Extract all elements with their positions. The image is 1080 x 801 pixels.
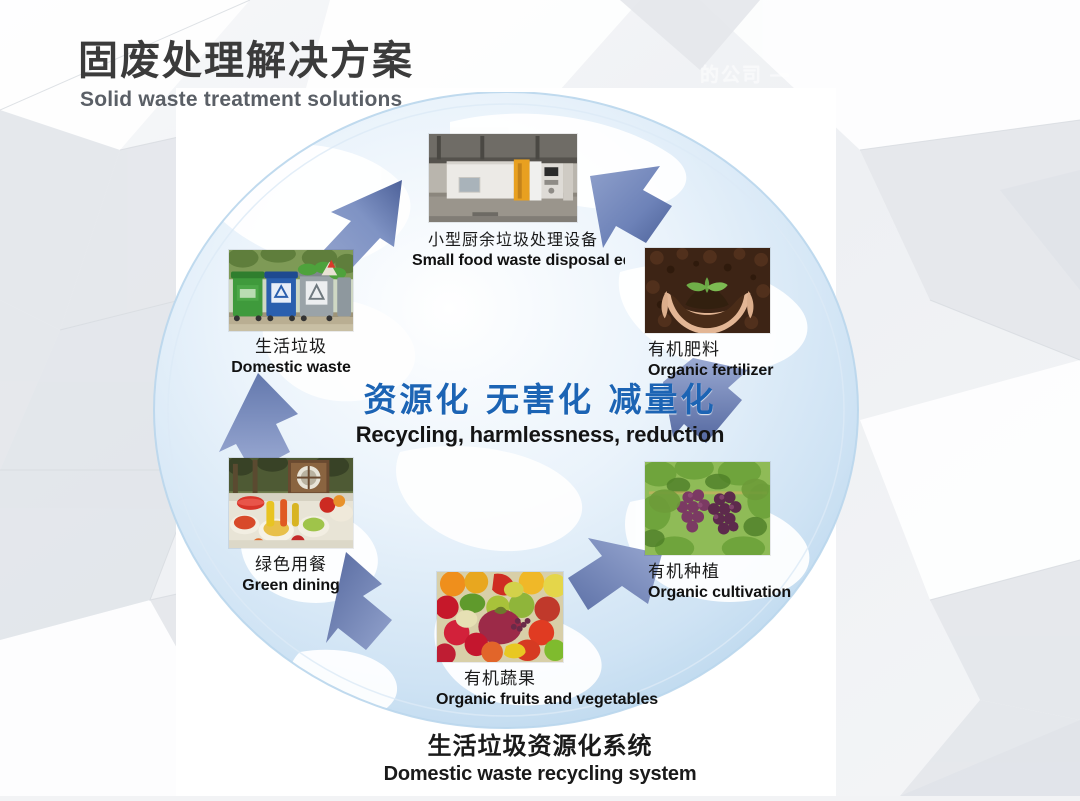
cycle-node-fruits-caption: 有机蔬果 Organic fruits and vegetables bbox=[436, 669, 564, 710]
cycle-node-waste[interactable]: 生活垃圾 Domestic waste bbox=[228, 249, 354, 378]
dining-table-photo bbox=[228, 457, 354, 549]
cycle-node-fertilizer-label-en: Organic fertilizer bbox=[648, 361, 771, 380]
hands-holding-soil-photo bbox=[644, 247, 771, 334]
cycle-node-fruits-label-en: Organic fruits and vegetables bbox=[436, 690, 564, 709]
fruits-vegetables-photo bbox=[436, 571, 564, 663]
cycle-node-dining-caption: 绿色用餐 Green dining bbox=[228, 555, 354, 596]
center-slogan: 资源化 无害化 减量化 Recycling, harmlessness, red… bbox=[0, 382, 1080, 448]
center-slogan-cn: 资源化 无害化 减量化 bbox=[0, 382, 1080, 418]
cycle-node-waste-label-cn: 生活垃圾 bbox=[228, 337, 354, 357]
cycle-node-fertilizer-caption: 有机肥料 Organic fertilizer bbox=[644, 340, 771, 381]
cycle-node-equipment-label-en: Small food waste disposal equipment bbox=[412, 252, 648, 270]
footer-title-cn: 生活垃圾资源化系统 bbox=[0, 726, 1080, 761]
cycle-node-dining-label-en: Green dining bbox=[228, 576, 354, 595]
grape-vine-photo bbox=[644, 461, 771, 556]
food-waste-machine-photo bbox=[428, 133, 578, 223]
center-slogan-en: Recycling, harmlessness, reduction bbox=[0, 422, 1080, 448]
cycle-node-dining-label-cn: 绿色用餐 bbox=[228, 555, 354, 575]
cycle-node-waste-label-en: Domestic waste bbox=[228, 358, 354, 377]
cycle-node-fertilizer[interactable]: 有机肥料 Organic fertilizer bbox=[644, 247, 771, 381]
cycle-node-cultivation-label-en: Organic cultivation bbox=[648, 583, 771, 602]
cycle-node-waste-caption: 生活垃圾 Domestic waste bbox=[228, 337, 354, 378]
cycle-node-equipment[interactable]: 小型厨余垃圾处理设备 Small food waste disposal equ… bbox=[428, 133, 578, 249]
cycle-node-cultivation-label-cn: 有机种植 bbox=[648, 562, 771, 582]
cycle-node-fertilizer-label-cn: 有机肥料 bbox=[648, 340, 771, 360]
footer-caption: 生活垃圾资源化系统 Domestic waste recycling syste… bbox=[0, 726, 1080, 786]
cycle-node-equipment-label-cn: 小型厨余垃圾处理设备 bbox=[428, 230, 578, 249]
cycle-node-fruits-label-cn: 有机蔬果 bbox=[436, 669, 564, 689]
cycle-node-fruits[interactable]: 有机蔬果 Organic fruits and vegetables bbox=[436, 571, 564, 710]
cycle-node-cultivation-caption: 有机种植 Organic cultivation bbox=[644, 562, 771, 603]
cycle-node-cultivation[interactable]: 有机种植 Organic cultivation bbox=[644, 461, 771, 603]
cycle-node-dining[interactable]: 绿色用餐 Green dining bbox=[228, 457, 354, 596]
recycling-bins-photo bbox=[228, 249, 354, 332]
cycle-node-equipment-caption: 小型厨余垃圾处理设备 bbox=[428, 230, 578, 249]
footer-title-en: Domestic waste recycling system bbox=[0, 763, 1080, 786]
